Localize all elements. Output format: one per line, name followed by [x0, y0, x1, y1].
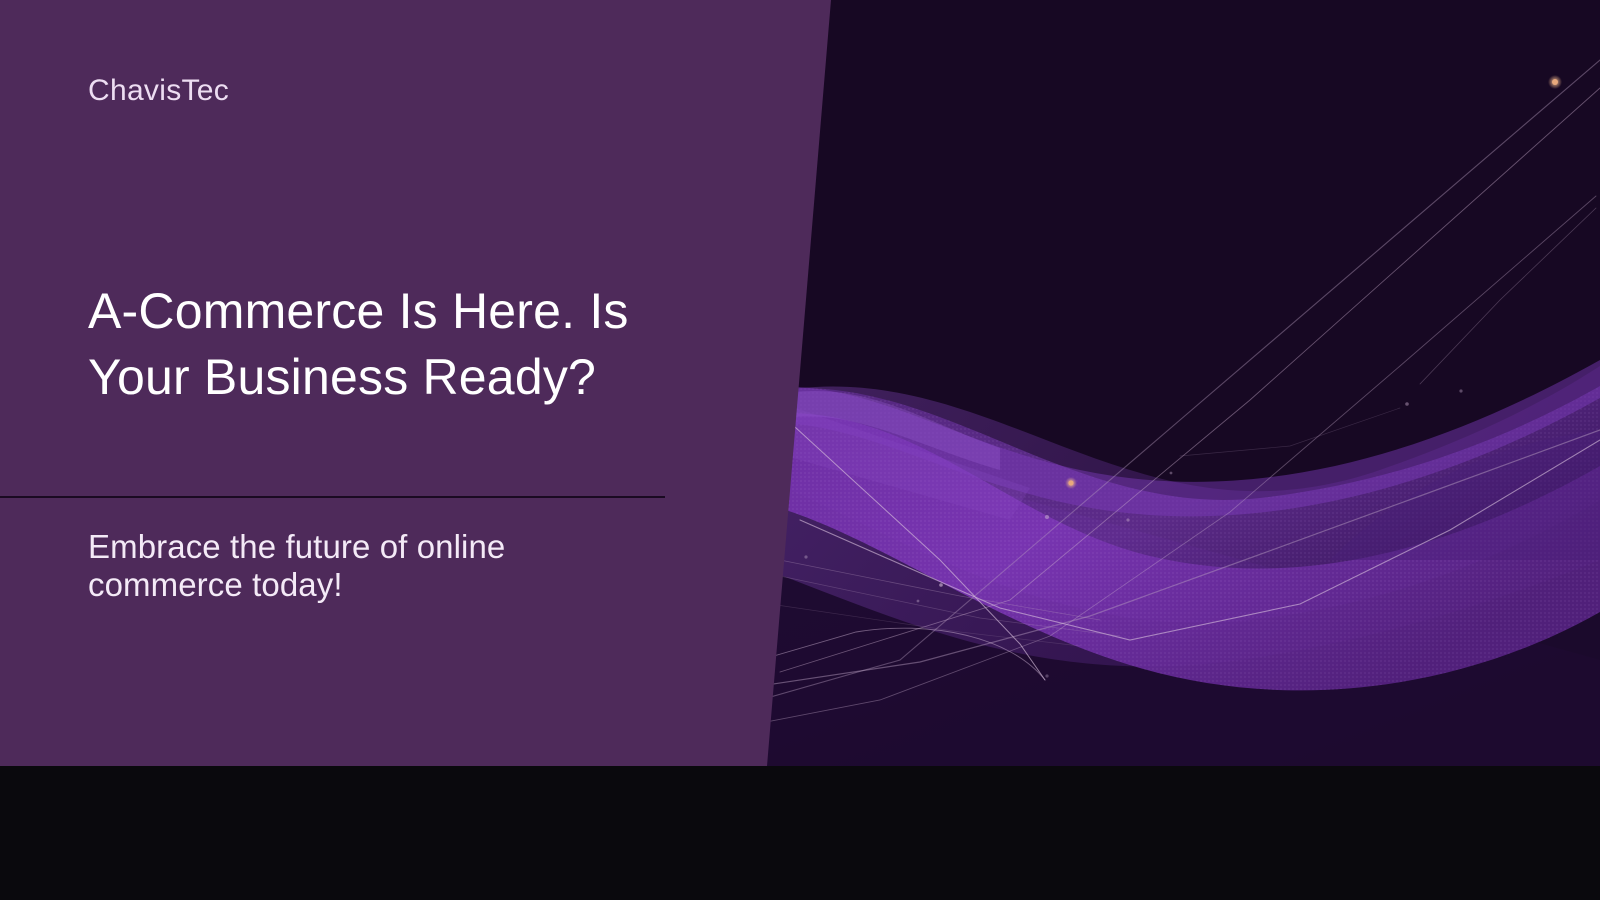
hero-subtitle: Embrace the future of online commerce to… [88, 528, 628, 604]
footer-bar: chavistec.com [0, 766, 1600, 900]
page-title: A-Commerce Is Here. Is Your Business Rea… [88, 278, 708, 410]
hero-section: ChavisTec A-Commerce Is Here. Is Your Bu… [0, 0, 1600, 766]
divider [0, 496, 665, 498]
marketing-banner: ChavisTec A-Commerce Is Here. Is Your Bu… [0, 0, 1600, 900]
brand-logo: ChavisTec [88, 76, 229, 106]
